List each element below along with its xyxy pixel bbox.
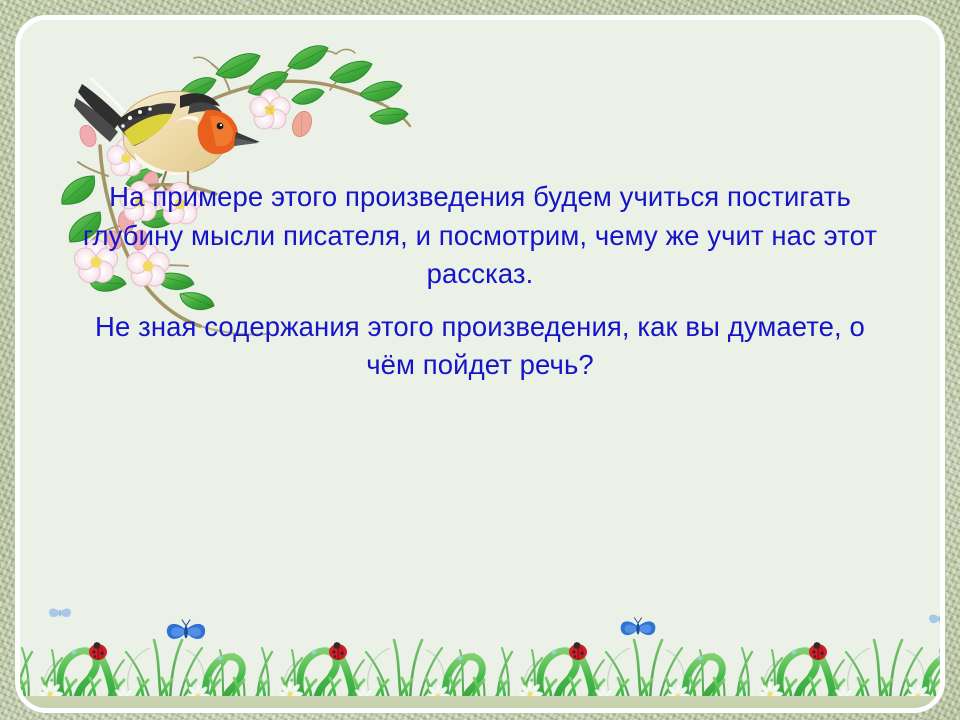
- slide-paragraph-1: На примере этого произведения будем учит…: [80, 178, 880, 294]
- butterfly: [167, 620, 205, 639]
- butterfly: [49, 608, 71, 617]
- slide-content-panel: На примере этого произведения будем учит…: [20, 20, 940, 708]
- grass-tile: [252, 640, 485, 708]
- grass-tile: [20, 640, 245, 708]
- butterfly: [621, 618, 656, 636]
- grass-tile: [492, 640, 725, 708]
- slide-canvas: На примере этого произведения будем учит…: [0, 0, 960, 720]
- ground-strip: [20, 696, 940, 708]
- grass-border-illustration: [20, 582, 940, 708]
- slide-paragraph-2: Не зная содержания этого произведения, к…: [80, 308, 880, 385]
- bud: [289, 109, 315, 140]
- slide-text-block: На примере этого произведения будем учит…: [80, 178, 880, 385]
- butterfly: [929, 614, 940, 623]
- grass-tile: [732, 640, 940, 708]
